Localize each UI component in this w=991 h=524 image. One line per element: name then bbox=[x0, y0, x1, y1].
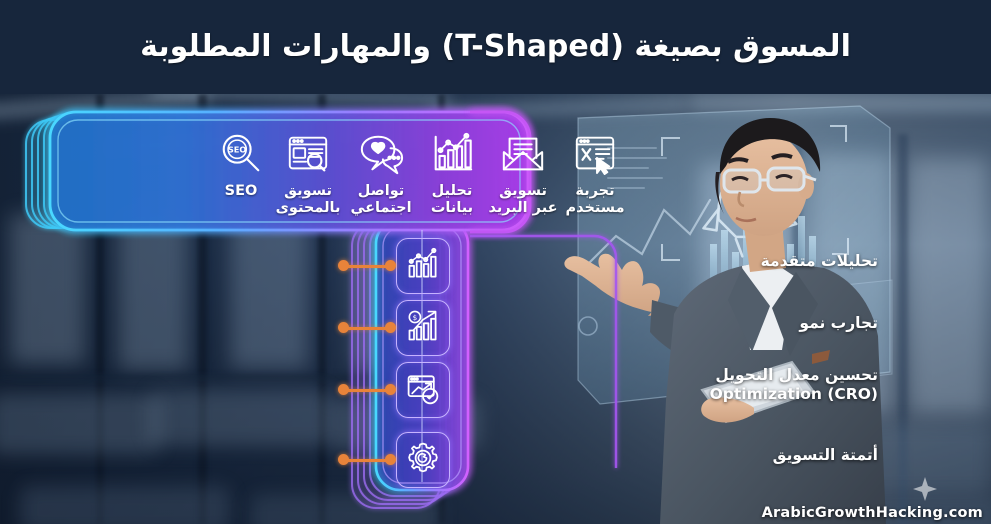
stem-item-label: أتمتة التسويق bbox=[773, 446, 878, 465]
top-skill-label-line2: عبر البريد bbox=[488, 200, 557, 216]
stem-item-advanced-analytics[interactable]: تحليلات متقدمة bbox=[396, 238, 666, 300]
connector-line bbox=[338, 322, 396, 334]
top-skill-label-line1: تحليل bbox=[432, 183, 473, 199]
advanced-analytics-box[interactable] bbox=[396, 238, 450, 294]
watermark: ArabicGrowthHacking.com bbox=[762, 505, 983, 521]
stem-item-growth-experiments[interactable]: $ تجارب نمو bbox=[396, 300, 666, 362]
infographic-canvas: SEO SEO تسويق بالمحتوى bbox=[0, 0, 991, 524]
stem-item-label: تحليلات متقدمة bbox=[761, 252, 878, 271]
page-title: المسوق بصيغة (T-Shaped) والمهارات المطلو… bbox=[110, 28, 881, 66]
top-skill-label-line2: مستخدم bbox=[565, 200, 624, 216]
advanced-analytics-icon bbox=[405, 246, 441, 286]
connector-line bbox=[338, 260, 396, 272]
top-skill-label-line1: تسويق bbox=[499, 183, 547, 199]
marketing-automation-box[interactable] bbox=[396, 432, 450, 488]
top-skill-label-line1: تجربة bbox=[575, 183, 614, 199]
connector-line bbox=[338, 384, 396, 396]
stem-item-label: تحسين معدل التحويل Optimization (CRO) bbox=[710, 366, 878, 403]
conversion-rate-icon bbox=[405, 370, 441, 410]
header-bar: المسوق بصيغة (T-Shaped) والمهارات المطلو… bbox=[0, 0, 991, 94]
top-skill-label-line2: اجتماعي bbox=[350, 200, 411, 216]
growth-experiments-icon: $ bbox=[405, 308, 441, 348]
marketing-automation-gear-icon bbox=[405, 440, 441, 480]
growth-experiments-box[interactable]: $ bbox=[396, 300, 450, 356]
sparkle-icon bbox=[912, 476, 938, 502]
svg-text:SEO: SEO bbox=[228, 145, 247, 155]
top-skill-label-line1: تواصل bbox=[358, 183, 404, 199]
stem-item-marketing-automation[interactable]: أتمتة التسويق bbox=[396, 432, 666, 494]
user-experience-cursor-icon bbox=[551, 128, 639, 180]
stem-item-label: تجارب نمو bbox=[799, 314, 878, 333]
connector-line bbox=[338, 454, 396, 466]
conversion-rate-box[interactable] bbox=[396, 362, 450, 418]
svg-text:$: $ bbox=[413, 313, 418, 322]
stem-item-cro[interactable]: تحسين معدل التحويل Optimization (CRO) bbox=[396, 362, 666, 424]
top-skill-label-line1: تسويق bbox=[284, 183, 332, 199]
top-skill-label-line2: بالمحتوى bbox=[276, 200, 341, 216]
top-skill-ux[interactable]: تجربة مستخدم bbox=[551, 128, 639, 217]
top-skill-label-line2: بيانات bbox=[431, 200, 473, 216]
